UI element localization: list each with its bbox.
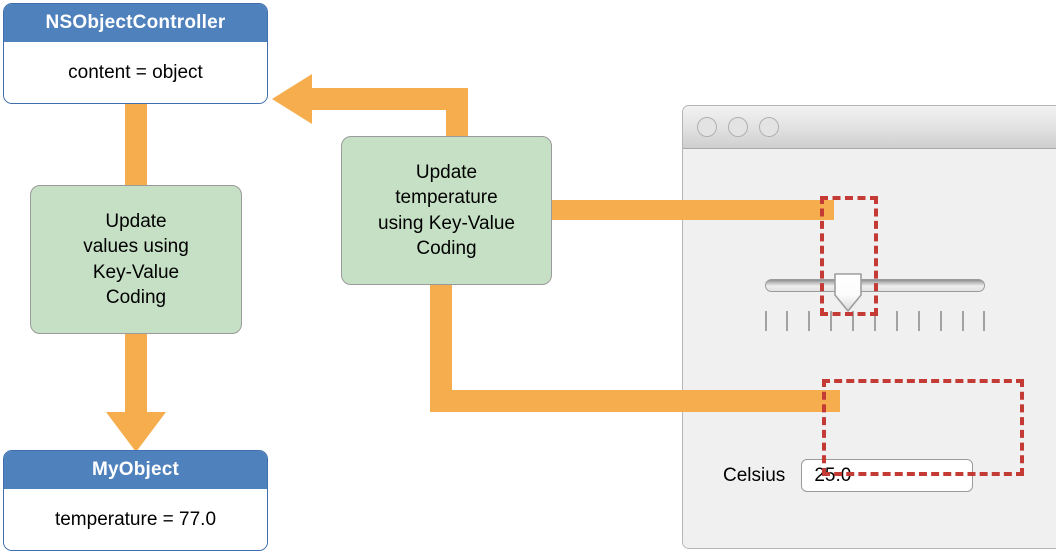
middle-action-box: Update temperature using Key-Value Codin… — [341, 136, 552, 285]
slider-highlight — [820, 196, 878, 316]
connector-middle-action-to-controller — [268, 48, 468, 148]
connector-middle-action-to-slider — [550, 200, 834, 220]
myobject-content: temperature = 77.0 — [4, 489, 267, 550]
connector-left-action-to-myobject — [104, 334, 168, 454]
celsius-highlight — [822, 379, 1024, 476]
connector-controller-to-left-action — [125, 100, 147, 192]
celsius-label: Celsius — [723, 465, 785, 487]
window-titlebar — [683, 106, 1056, 149]
myobject-box: MyObject temperature = 77.0 — [3, 450, 268, 551]
left-action-box: Update values using Key-Value Coding — [30, 185, 242, 334]
close-button[interactable] — [697, 117, 717, 137]
zoom-button[interactable] — [759, 117, 779, 137]
nsobjectcontroller-content: content = object — [4, 42, 267, 103]
diagram-canvas: Celsius 25.0 NSObjectController content … — [0, 0, 1056, 555]
connector-middle-action-to-celsius — [430, 282, 860, 412]
myobject-title: MyObject — [4, 451, 267, 489]
minimize-button[interactable] — [728, 117, 748, 137]
nsobjectcontroller-title: NSObjectController — [4, 4, 267, 42]
nsobjectcontroller-box: NSObjectController content = object — [3, 3, 268, 104]
